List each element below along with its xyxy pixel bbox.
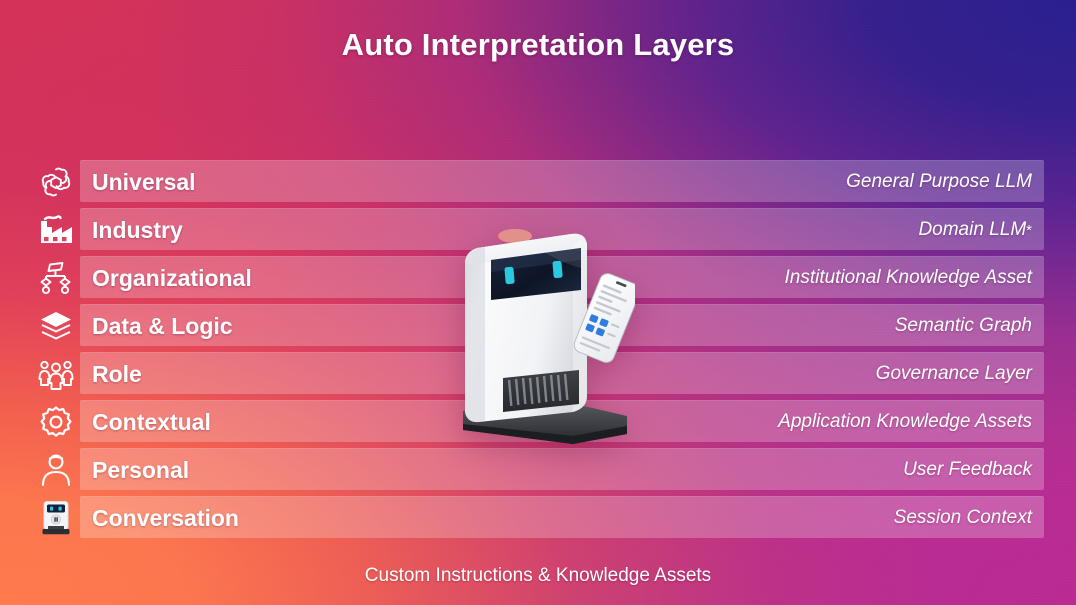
layer-value: General Purpose LLM: [846, 158, 1032, 206]
layer-value-text: Session Context: [894, 507, 1032, 529]
layer-value-text: Domain LLM: [918, 219, 1026, 241]
layer-name: Data & Logic: [92, 302, 233, 350]
org-chart-icon: [34, 254, 78, 302]
layer-value: Institutional Knowledge Asset: [784, 254, 1032, 302]
layer-name: Universal: [92, 158, 196, 206]
layer-value: Domain LLM*: [918, 206, 1032, 254]
layer-row[interactable]: PersonalUser Feedback: [0, 446, 1076, 494]
layers-stack-icon: [34, 302, 78, 350]
layer-value-text: General Purpose LLM: [846, 171, 1032, 193]
gear-icon: [34, 398, 78, 446]
layer-name: Conversation: [92, 494, 239, 542]
layer-value: Session Context: [894, 494, 1032, 542]
layer-value-text: Institutional Knowledge Asset: [784, 267, 1032, 289]
layer-name: Industry: [92, 206, 183, 254]
people-group-icon: [34, 350, 78, 398]
layer-name: Role: [92, 350, 142, 398]
layer-name: Organizational: [92, 254, 252, 302]
layer-name: Contextual: [92, 398, 211, 446]
robot-icon: [34, 494, 78, 542]
slide-canvas: Auto Interpretation Layers UniversalGene…: [0, 0, 1076, 605]
factory-icon: [34, 206, 78, 254]
layer-name: Personal: [92, 446, 189, 494]
openai-flower-icon: [34, 158, 78, 206]
layer-value: Governance Layer: [876, 350, 1032, 398]
page-title: Auto Interpretation Layers: [0, 27, 1076, 63]
robot-holding-phone-illustration: [455, 228, 635, 453]
footer-caption: Custom Instructions & Knowledge Assets: [0, 565, 1076, 587]
layer-value-text: Governance Layer: [876, 363, 1032, 385]
layer-value-text: User Feedback: [903, 459, 1032, 481]
layer-value: Semantic Graph: [895, 302, 1032, 350]
layer-value-text: Semantic Graph: [895, 315, 1032, 337]
person-icon: [34, 446, 78, 494]
layer-value: User Feedback: [903, 446, 1032, 494]
layer-bar: [80, 448, 1044, 490]
footnote-asterisk: *: [1026, 222, 1032, 239]
layer-value: Application Knowledge Assets: [778, 398, 1032, 446]
layer-row[interactable]: UniversalGeneral Purpose LLM: [0, 158, 1076, 206]
layer-value-text: Application Knowledge Assets: [778, 411, 1032, 433]
layer-row[interactable]: ConversationSession Context: [0, 494, 1076, 542]
